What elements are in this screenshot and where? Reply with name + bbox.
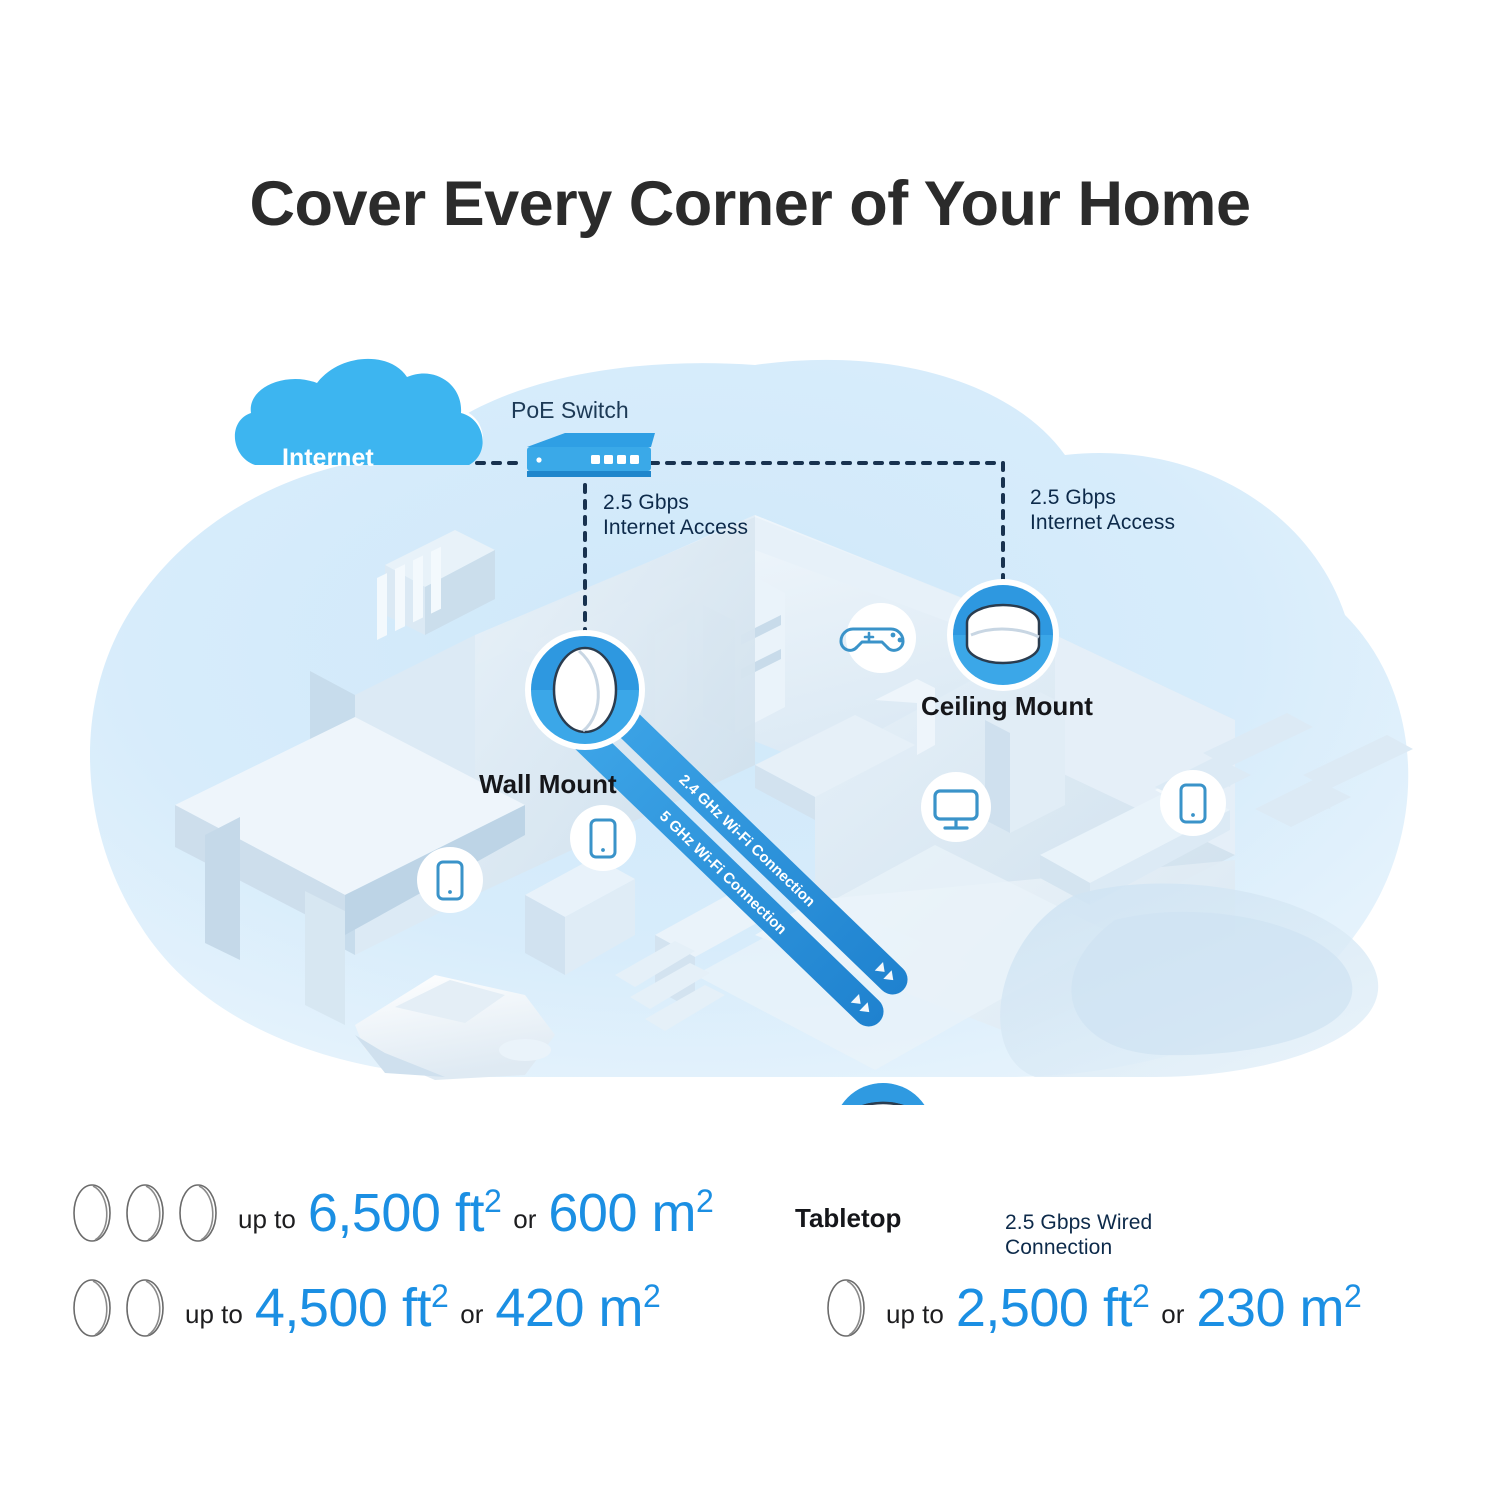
coverage-ft-sup: 2 <box>1132 1278 1149 1314</box>
deco-unit-outline-icon <box>178 1182 224 1244</box>
deco-unit-icons-3 <box>72 1182 224 1244</box>
coverage-row-2-pack: up to 4,500 ft2 or 420 m2 <box>72 1277 660 1339</box>
smartphone-icon-kitchen <box>570 805 636 871</box>
smartphone-icon-pool <box>1160 770 1226 836</box>
deco-unit-icons-2 <box>72 1277 171 1339</box>
coverage-ft-value: 2,500 ft <box>956 1278 1132 1338</box>
ceiling-mount-label: Ceiling Mount <box>921 691 1093 722</box>
tabletop-callout: 2.5 Gbps Wired Connection <box>1005 1210 1152 1260</box>
deco-unit-icons-1 <box>826 1277 872 1339</box>
wall-mount-label: Wall Mount <box>479 769 617 800</box>
poe-switch-label: PoE Switch <box>511 397 629 424</box>
coverage-m-sup: 2 <box>696 1183 713 1219</box>
coverage-m: 420 m2 <box>495 1277 660 1339</box>
coverage-conj: or <box>460 1299 483 1330</box>
coverage-ft: 2,500 ft2 <box>956 1277 1149 1339</box>
coverage-m-sup: 2 <box>643 1278 660 1314</box>
ceiling-mount-callout: 2.5 Gbps Internet Access <box>1030 485 1175 535</box>
coverage-ft-value: 6,500 ft <box>308 1183 484 1243</box>
coverage-row-3-pack: up to 6,500 ft2 or 600 m2 <box>72 1182 713 1244</box>
deco-ceiling-mount-icon <box>947 579 1059 691</box>
coverage-prefix: up to <box>886 1299 944 1330</box>
smartphone-icon-garage <box>417 847 483 913</box>
page-title: Cover Every Corner of Your Home <box>0 168 1500 240</box>
deco-unit-outline-icon <box>826 1277 872 1339</box>
coverage-m-value: 600 m <box>548 1183 696 1243</box>
coverage-ft-sup: 2 <box>431 1278 448 1314</box>
coverage-ft: 4,500 ft2 <box>255 1277 448 1339</box>
coverage-m-sup: 2 <box>1344 1278 1361 1314</box>
coverage-prefix: up to <box>185 1299 243 1330</box>
coverage-ft-sup: 2 <box>484 1183 501 1219</box>
deco-unit-outline-icon <box>125 1277 171 1339</box>
deco-unit-outline-icon <box>125 1182 171 1244</box>
monitor-icon <box>921 772 991 842</box>
coverage-conj: or <box>1161 1299 1184 1330</box>
wall-mount-callout: 2.5 Gbps Internet Access <box>603 490 748 540</box>
deco-tabletop-icon <box>827 1077 939 1105</box>
page-root: Cover Every Corner of Your Home <box>0 0 1500 1500</box>
tabletop-label: Tabletop <box>795 1203 901 1234</box>
coverage-m: 230 m2 <box>1196 1277 1361 1339</box>
deco-unit-outline-icon <box>72 1277 118 1339</box>
deco-unit-outline-icon <box>72 1182 118 1244</box>
console-and-pc-icon <box>1053 1095 1171 1105</box>
coverage-m-value: 230 m <box>1196 1278 1344 1338</box>
internet-cloud-label: Internet <box>282 444 374 473</box>
home-coverage-diagram: 2.4 GHz Wi-Fi Connection 5 GHz Wi-Fi Con… <box>55 335 1445 1105</box>
coverage-m-value: 420 m <box>495 1278 643 1338</box>
coverage-m: 600 m2 <box>548 1182 713 1244</box>
coverage-ft: 6,500 ft2 <box>308 1182 501 1244</box>
deco-wall-mount-icon <box>525 630 645 750</box>
coverage-ft-value: 4,500 ft <box>255 1278 431 1338</box>
coverage-prefix: up to <box>238 1204 296 1235</box>
coverage-row-1-pack: up to 2,500 ft2 or 230 m2 <box>826 1277 1361 1339</box>
coverage-conj: or <box>513 1204 536 1235</box>
